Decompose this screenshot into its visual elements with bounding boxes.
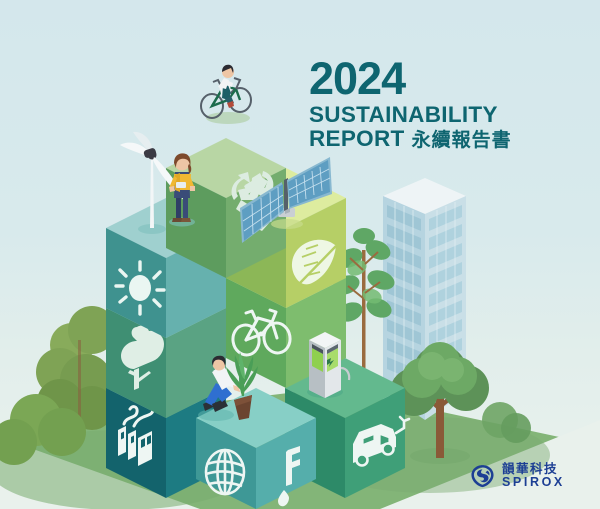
person-cycling [201,65,251,124]
company-logo: 韻華科技 SPIROX [469,462,565,489]
logo-chinese-name: 韻華科技 [502,463,565,476]
title-year: 2024 [309,58,405,101]
title-chinese: 永續報告書 [412,130,512,151]
cover-title: 2024 SUSTAINABILITY REPORT永續報告書 [309,58,584,152]
spirox-trefoil-mark [469,462,496,489]
title-line-1: SUSTAINABILITY [309,102,498,127]
report-cover: 2024 SUSTAINABILITY REPORT永續報告書 韻華科技 SPI… [0,0,600,509]
logo-english-name: SPIROX [502,476,565,489]
title-words: SUSTAINABILITY REPORT永續報告書 [309,103,512,152]
title-line-2: REPORT永續報告書 [309,126,512,151]
title-report-word: REPORT [309,126,405,151]
logo-text: 韻華科技 SPIROX [502,463,565,489]
